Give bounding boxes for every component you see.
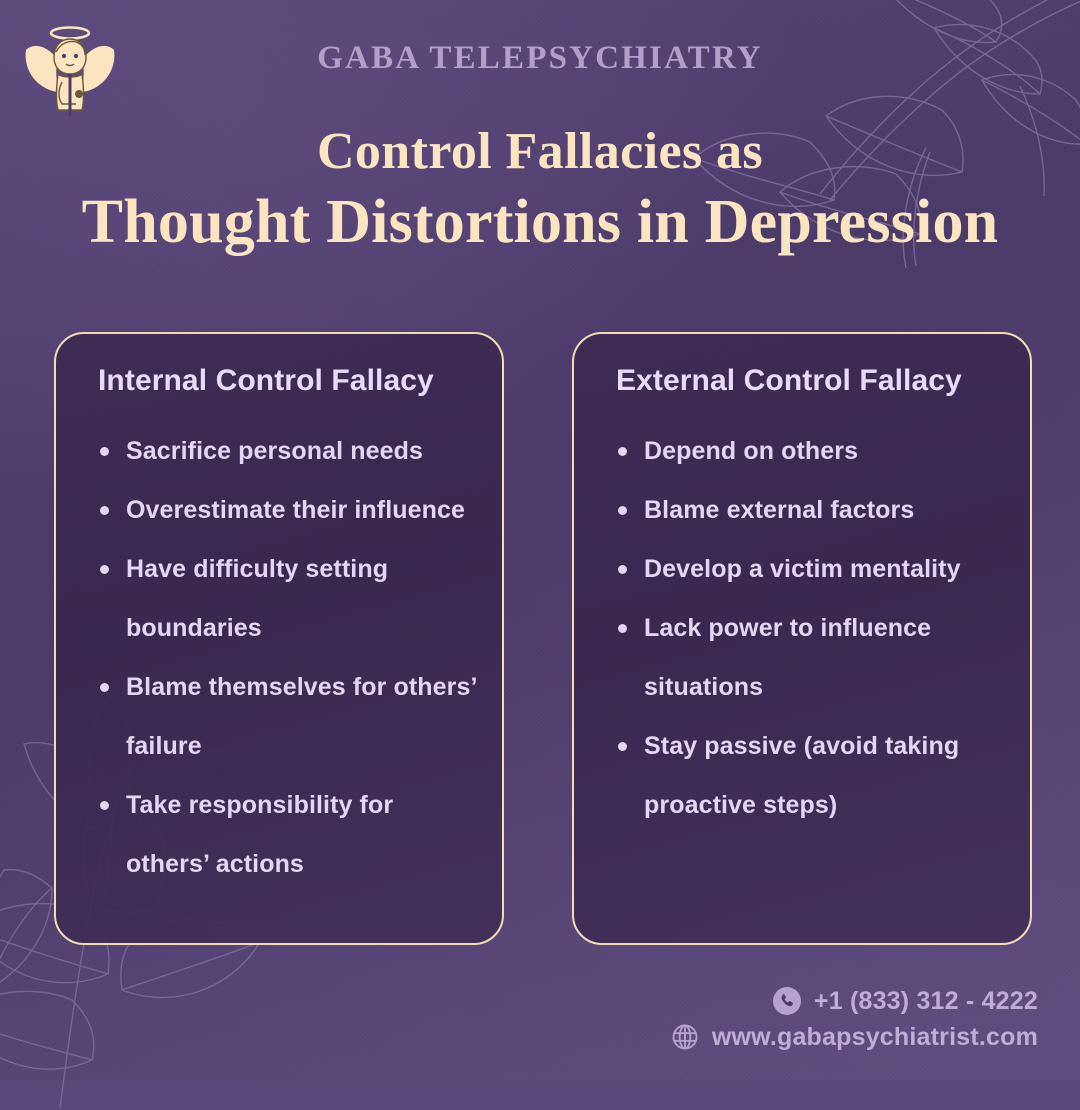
- list-item: Depend on others: [598, 422, 1006, 481]
- cards-container: Internal Control Fallacy Sacrifice perso…: [0, 332, 1080, 947]
- list-item: Stay passive (avoid taking proactive ste…: [598, 717, 1006, 835]
- list-item-label: Have difficulty setting boundaries: [126, 555, 388, 642]
- bullet-list: Sacrifice personal needs Overestimate th…: [80, 422, 478, 894]
- globe-icon: [670, 1022, 700, 1052]
- list-item: Blame external factors: [598, 481, 1006, 540]
- list-item-label: Depend on others: [644, 437, 858, 465]
- page-title: Control Fallacies as Thought Distortions…: [0, 125, 1080, 255]
- contact-website-row[interactable]: www.gabapsychiatrist.com: [0, 1022, 1080, 1052]
- bullet-dot-icon: [618, 624, 627, 633]
- list-item: Take responsibility for others’ actions: [80, 776, 478, 894]
- bullet-dot-icon: [100, 506, 109, 515]
- bullet-dot-icon: [618, 565, 627, 574]
- list-item: Lack power to influence situations: [598, 599, 1006, 717]
- bullet-dot-icon: [618, 742, 627, 751]
- bullet-dot-icon: [100, 447, 109, 456]
- card-title: Internal Control Fallacy: [98, 364, 478, 398]
- list-item-label: Sacrifice personal needs: [126, 437, 423, 465]
- list-item-label: Stay passive (avoid taking proactive ste…: [644, 732, 959, 819]
- list-item-label: Take responsibility for others’ actions: [126, 791, 393, 878]
- contact-phone-row[interactable]: +1 (833) 312 - 4222: [0, 986, 1080, 1016]
- brand-name: GABA TELEPSYCHIATRY: [0, 40, 1080, 77]
- list-item: Overestimate their influence: [80, 481, 478, 540]
- list-item: Sacrifice personal needs: [80, 422, 478, 481]
- bullet-dot-icon: [100, 801, 109, 810]
- footer-contact: +1 (833) 312 - 4222 www.gabapsychiatrist…: [0, 986, 1080, 1058]
- list-item-label: Overestimate their influence: [126, 496, 465, 524]
- bullet-dot-icon: [618, 506, 627, 515]
- card-title: External Control Fallacy: [616, 364, 1006, 398]
- headline-line-1: Control Fallacies as: [0, 125, 1080, 180]
- list-item-label: Lack power to influence situations: [644, 614, 931, 701]
- card-internal-control-fallacy: Internal Control Fallacy Sacrifice perso…: [54, 332, 504, 945]
- phone-number: +1 (833) 312 - 4222: [814, 987, 1038, 1016]
- list-item: Develop a victim mentality: [598, 540, 1006, 599]
- phone-icon: [772, 986, 802, 1016]
- list-item-label: Blame external factors: [644, 496, 914, 524]
- bullet-list: Depend on others Blame external factors …: [598, 422, 1006, 835]
- bullet-dot-icon: [100, 565, 109, 574]
- website-url: www.gabapsychiatrist.com: [712, 1023, 1038, 1052]
- bullet-dot-icon: [618, 447, 627, 456]
- list-item-label: Develop a victim mentality: [644, 555, 961, 583]
- headline-line-2: Thought Distortions in Depression: [0, 190, 1080, 255]
- list-item: Blame themselves for others’ failure: [80, 658, 478, 776]
- bullet-dot-icon: [100, 683, 109, 692]
- card-external-control-fallacy: External Control Fallacy Depend on other…: [572, 332, 1032, 945]
- list-item-label: Blame themselves for others’ failure: [126, 673, 476, 760]
- list-item: Have difficulty setting boundaries: [80, 540, 478, 658]
